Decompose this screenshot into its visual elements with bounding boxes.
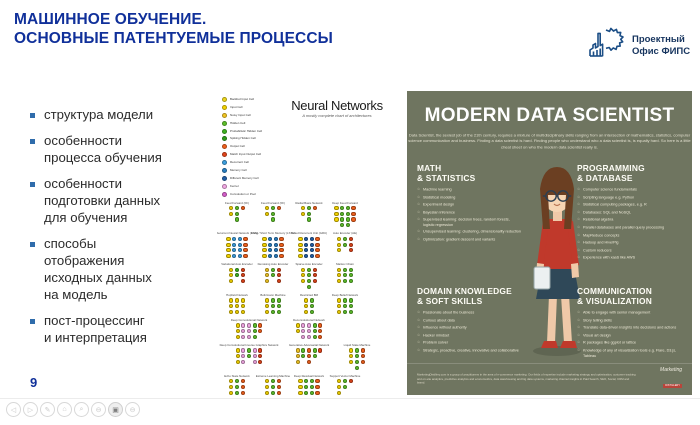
nn-node xyxy=(279,237,283,241)
collapse-icon: ⊖ xyxy=(130,406,136,414)
presentation-button[interactable]: ▣ xyxy=(108,402,123,417)
nn-node xyxy=(298,243,302,247)
ds-section-title-line-2: & DATABASE xyxy=(577,173,633,183)
ds-list-item: ☆Statistical computing packages, e.g. R xyxy=(577,202,681,207)
nn-node xyxy=(301,323,305,327)
nn-node xyxy=(229,385,233,389)
ds-list-item-label: Influence without authority xyxy=(423,325,521,330)
nn-node xyxy=(337,304,341,308)
nn-node xyxy=(277,279,281,283)
nn-legend-item: Different Memory Cell xyxy=(222,176,275,181)
nn-legend-dot-icon xyxy=(222,97,227,102)
nn-node xyxy=(229,379,233,383)
bullet-item-2: особенностипроцесса обучения xyxy=(30,132,210,166)
nn-node xyxy=(307,279,311,283)
ds-section: DOMAIN KNOWLEDGE& SOFT SKILLS☆Passionate… xyxy=(417,286,521,356)
nn-legend-label: Recurrent Cell xyxy=(230,161,249,165)
nn-architecture: Echo State Network xyxy=(219,375,255,395)
nn-architecture: Deep Belief Network xyxy=(327,294,363,314)
nn-node xyxy=(337,379,341,383)
nn-node xyxy=(313,335,317,339)
nn-node xyxy=(265,385,269,389)
nn-node xyxy=(241,391,245,395)
ds-list-item-label: Hacker mindset xyxy=(423,333,521,338)
ds-footer-logo-text: Marketing xyxy=(660,367,682,373)
ds-list-item: ☆Statistical modeling xyxy=(417,195,521,200)
nn-node xyxy=(271,385,275,389)
nn-legend-item: Match Input Output Cell xyxy=(222,152,275,157)
nn-node xyxy=(337,298,341,302)
star-icon: ☆ xyxy=(417,210,420,215)
bullet-list: структура моделиособенностипроцесса обуч… xyxy=(30,106,210,355)
nn-architecture-diagram xyxy=(219,379,255,395)
nn-node xyxy=(349,273,353,277)
slide-viewer: МАШИННОЕ ОБУЧЕНИЕ. ОСНОВНЫЕ ПАТЕНТУЕМЫЕ … xyxy=(0,0,700,425)
nn-node xyxy=(271,206,275,210)
nn-node xyxy=(258,348,262,352)
nn-node xyxy=(310,243,314,247)
nn-node xyxy=(298,248,302,252)
nn-architecture: Long / Short Term Memory (LSTM) xyxy=(255,232,291,258)
nn-node xyxy=(343,243,347,247)
nn-node xyxy=(265,298,269,302)
nn-node xyxy=(241,310,245,314)
nn-node xyxy=(337,248,341,252)
play-button[interactable]: ▷ xyxy=(23,402,38,417)
nn-architecture-diagram xyxy=(291,268,327,289)
nn-node xyxy=(232,254,236,258)
bullet-item-label: структура модели xyxy=(44,106,153,123)
nn-node xyxy=(232,243,236,247)
nn-node xyxy=(253,329,257,333)
ds-list-item-label: Bayesian inference xyxy=(423,210,521,215)
nn-legend-label: Noisy Input Cell xyxy=(230,114,251,118)
nn-legend-dot-icon xyxy=(222,160,227,165)
nn-node xyxy=(243,248,247,252)
nn-node xyxy=(235,379,239,383)
nn-legend-dot-icon xyxy=(222,176,227,181)
data-scientist-illustration xyxy=(530,155,584,360)
ds-list-item-label: Curious about data xyxy=(423,318,521,323)
nn-architecture-diagram xyxy=(255,379,291,395)
nn-node xyxy=(307,335,311,339)
nn-node xyxy=(343,279,347,283)
nn-node xyxy=(310,391,314,395)
ds-list-item-label: Experiment design xyxy=(423,202,521,207)
ds-list-item-label: Hadoop and Hive/Pig xyxy=(583,240,681,245)
pen-icon: ✎ xyxy=(45,406,51,414)
nn-node xyxy=(235,385,239,389)
nn-node xyxy=(268,237,272,241)
nn-architecture-label: Support Vector Machine xyxy=(323,374,366,378)
nn-node xyxy=(349,279,353,283)
nn-node xyxy=(241,348,245,352)
logo-line-2: Офис ФИПС xyxy=(632,46,690,57)
nn-node xyxy=(277,268,281,272)
nn-node xyxy=(351,212,355,216)
nn-architecture: Liquid State Machine xyxy=(339,344,375,370)
nn-legend-label: Match Input Output Cell xyxy=(230,153,261,157)
nn-architecture: Feed Forward (FF) xyxy=(255,202,291,228)
nn-node xyxy=(274,243,278,247)
star-icon: ☆ xyxy=(417,310,420,315)
nn-node xyxy=(340,223,344,227)
ds-list-item-label: Passionate about the business xyxy=(423,310,521,315)
nn-node xyxy=(307,217,311,221)
ds-list-item: ☆Curious about data xyxy=(417,318,521,323)
nn-node xyxy=(229,273,233,277)
nn-node xyxy=(238,237,242,241)
nn-legend-label: Input Cell xyxy=(230,106,242,110)
ds-list-item: ☆Optimization: gradient descent and vari… xyxy=(417,237,521,242)
ds-section-title: PROGRAMMING& DATABASE xyxy=(577,163,681,183)
nn-node xyxy=(346,217,350,221)
nn-node xyxy=(343,304,347,308)
nn-architecture: Hopfield Network xyxy=(219,294,255,314)
nn-node xyxy=(310,385,314,389)
nn-node xyxy=(265,304,269,308)
nn-architecture-label: Deep Feed Forward xyxy=(323,201,366,205)
ds-list-item-label: Statistical computing packages, e.g. R xyxy=(583,202,681,207)
nn-node xyxy=(265,379,269,383)
nn-node xyxy=(313,206,317,210)
nn-node xyxy=(301,354,305,358)
star-icon: ☆ xyxy=(417,348,420,353)
nn-architecture-diagram xyxy=(327,379,363,395)
ds-section-title: MATH& STATISTICS xyxy=(417,163,521,183)
nn-node xyxy=(304,391,308,395)
nn-node xyxy=(334,217,338,221)
star-icon: ☆ xyxy=(577,195,580,200)
nn-architecture-diagram xyxy=(291,379,327,395)
nn-node xyxy=(247,335,251,339)
logo-label: Проектный Офис ФИПС xyxy=(632,34,690,58)
nn-node xyxy=(355,348,359,352)
nn-node xyxy=(229,391,233,395)
nn-node xyxy=(226,254,230,258)
star-icon: ☆ xyxy=(577,348,580,353)
nn-node xyxy=(241,273,245,277)
bullet-item-1: структура модели xyxy=(30,106,210,123)
nn-architecture: Deep Convolutional Network xyxy=(219,319,279,339)
home-icon: ⌂ xyxy=(62,406,66,413)
nn-node xyxy=(236,335,240,339)
star-icon: ☆ xyxy=(577,325,580,330)
nn-node xyxy=(229,279,233,283)
nn-node xyxy=(235,212,239,216)
nn-node xyxy=(351,217,355,221)
nn-node xyxy=(247,354,251,358)
nn-node xyxy=(247,329,251,333)
star-icon: ☆ xyxy=(417,325,420,330)
ds-list-item: ☆Unsupervised learning: clustering, dime… xyxy=(417,229,521,234)
ds-list-item-label: Strategic, proactive, creative, innovati… xyxy=(423,348,521,353)
nn-node xyxy=(279,254,283,258)
ds-section-title: COMMUNICATION& VISUALIZATION xyxy=(577,286,681,306)
nn-node xyxy=(271,391,275,395)
nn-node xyxy=(304,379,308,383)
ds-section: PROGRAMMING& DATABASE☆Computer science f… xyxy=(577,163,681,263)
nn-node xyxy=(271,298,275,302)
nn-architecture: Boltzmann Machine xyxy=(255,294,291,314)
star-icon: ☆ xyxy=(577,340,580,345)
ds-list-item: ☆Supervised learning: decision trees, ra… xyxy=(417,217,521,226)
previous-slide-button[interactable]: ◁ xyxy=(6,402,21,417)
star-icon: ☆ xyxy=(417,229,420,234)
nn-architecture-diagram xyxy=(339,348,375,369)
nn-node xyxy=(343,268,347,272)
nn-node xyxy=(247,348,251,352)
bullet-item-4: способыотображенияисходных данныхна моде… xyxy=(30,235,210,303)
nn-architecture: Auto Encoder (AE) xyxy=(327,232,363,258)
nn-node xyxy=(268,248,272,252)
star-icon: ☆ xyxy=(577,225,580,230)
nn-architecture: Markov Chain xyxy=(327,263,363,289)
nn-architecture-label: Deep Belief Network xyxy=(323,294,366,298)
ds-footer: MarketingDistillery.com is a group of pr… xyxy=(407,363,692,391)
nn-legend-label: Hidden Cell xyxy=(230,121,245,125)
nn-node xyxy=(355,360,359,364)
nn-node xyxy=(315,391,319,395)
nn-legend-item: Backfed Input Cell xyxy=(222,97,275,102)
nn-node xyxy=(307,206,311,210)
nn-architecture-diagram xyxy=(255,268,291,284)
nn-node xyxy=(247,323,251,327)
presentation-toolbar[interactable]: ◁▷✎⌂⌕⊖▣⊖ xyxy=(6,402,140,417)
nn-node xyxy=(277,379,281,383)
nn-node xyxy=(304,385,308,389)
nn-architecture-diagram xyxy=(291,206,327,222)
nn-node xyxy=(343,310,347,314)
nn-node xyxy=(236,360,240,364)
nn-architecture-diagram xyxy=(279,348,339,364)
nn-node xyxy=(315,248,319,252)
nn-node xyxy=(340,212,344,216)
nn-node xyxy=(307,273,311,277)
nn-node xyxy=(307,285,311,289)
nn-legend-dot-icon xyxy=(222,121,227,126)
ds-list-item-label: Parallel databases and parallel query pr… xyxy=(583,225,681,230)
nn-node xyxy=(304,254,308,258)
nn-node xyxy=(229,212,233,216)
nn-node xyxy=(307,354,311,358)
nn-node xyxy=(351,206,355,210)
nn-node xyxy=(334,212,338,216)
nn-node xyxy=(318,323,322,327)
nn-architecture: Recurrent Neural Network (RNN) xyxy=(219,232,255,258)
nn-node xyxy=(235,391,239,395)
nn-legend-item: Input Cell xyxy=(222,105,275,110)
star-icon: ☆ xyxy=(417,333,420,338)
nn-node xyxy=(301,329,305,333)
nn-architecture: Variational Auto Encoder xyxy=(219,263,255,289)
nn-legend-dot-icon xyxy=(222,184,227,189)
bullet-marker-icon xyxy=(30,139,35,144)
nn-node xyxy=(268,243,272,247)
nn-node xyxy=(235,206,239,210)
star-icon: ☆ xyxy=(577,248,580,253)
nn-node xyxy=(340,206,344,210)
toolbar-divider xyxy=(0,398,700,399)
nn-architecture-label: Liquid State Machine xyxy=(335,344,378,348)
bullet-marker-icon xyxy=(30,319,35,324)
star-icon: ☆ xyxy=(577,333,580,338)
nn-node xyxy=(229,206,233,210)
star-icon: ☆ xyxy=(577,217,580,222)
nn-node xyxy=(296,329,300,333)
ds-section-title-line-1: MATH xyxy=(417,163,441,173)
nn-architecture: Radial Basis Network xyxy=(291,202,327,228)
nn-node xyxy=(315,385,319,389)
nn-architecture-diagram xyxy=(255,237,291,258)
nn-node xyxy=(229,298,233,302)
nn-poster-title: Neural Networks xyxy=(275,98,399,113)
nn-node xyxy=(298,254,302,258)
nn-legend-dot-icon xyxy=(222,129,227,134)
nn-node xyxy=(349,298,353,302)
factory-gear-icon xyxy=(586,26,626,66)
star-icon: ☆ xyxy=(577,310,580,315)
star-icon: ☆ xyxy=(577,318,580,323)
nn-node xyxy=(258,354,262,358)
nn-architecture-diagram xyxy=(255,298,291,314)
nn-architecture: Deep Convolutional Inverse Graphics Netw… xyxy=(219,344,279,370)
nn-node xyxy=(349,310,353,314)
bullet-marker-icon xyxy=(30,113,35,118)
nn-node xyxy=(361,354,365,358)
nn-node xyxy=(349,237,353,241)
ds-list-item: ☆Machine learning xyxy=(417,187,521,192)
nn-architecture: Sparse Auto Encoder xyxy=(291,263,327,289)
nn-node xyxy=(301,212,305,216)
nn-node xyxy=(241,329,245,333)
nn-legend-label: Output Cell xyxy=(230,145,245,149)
nn-node xyxy=(253,335,257,339)
ds-footer-badge: DISTILLERY xyxy=(663,384,682,388)
nn-node xyxy=(241,323,245,327)
nn-architecture-label: Deconvolutional Network xyxy=(273,319,345,323)
ds-list-item: ☆Databases: SQL and NoSQL xyxy=(577,210,681,215)
nn-node xyxy=(337,268,341,272)
nn-node xyxy=(307,329,311,333)
nn-node xyxy=(315,379,319,383)
nn-architecture-diagram xyxy=(219,237,255,258)
nn-node xyxy=(232,248,236,252)
nn-node xyxy=(313,323,317,327)
ds-list-item: ☆Relational algebra xyxy=(577,217,681,222)
star-icon: ☆ xyxy=(417,202,420,207)
nn-architecture-diagram xyxy=(327,298,363,314)
nn-node xyxy=(343,379,347,383)
ds-list-item-label: Custom reducers xyxy=(583,248,681,253)
nn-node xyxy=(226,243,230,247)
nn-architecture-label: Auto Encoder (AE) xyxy=(323,232,366,236)
nn-node xyxy=(307,360,311,364)
neural-networks-poster: Backfed Input CellInput CellNoisy Input … xyxy=(217,91,399,395)
nn-node xyxy=(238,254,242,258)
nn-node xyxy=(277,298,281,302)
nn-node xyxy=(241,354,245,358)
nn-node xyxy=(307,268,311,272)
nn-node xyxy=(296,354,300,358)
ds-list-item-label: Visual art design xyxy=(583,333,681,338)
nn-architecture-diagram xyxy=(327,206,363,227)
nn-architecture: Generative Adversarial Network xyxy=(279,344,339,370)
star-icon: ☆ xyxy=(577,210,580,215)
nn-node xyxy=(301,348,305,352)
nn-architecture-diagram xyxy=(279,323,339,339)
nn-legend-label: Memory Cell xyxy=(230,169,247,173)
ds-section-title-line-1: COMMUNICATION xyxy=(577,286,652,296)
nn-legend-item: Probabilistic Hidden Cell xyxy=(222,129,275,134)
collapse-button[interactable]: ⊖ xyxy=(125,402,140,417)
star-icon: ☆ xyxy=(577,187,580,192)
bullet-marker-icon xyxy=(30,242,35,247)
ds-list-item: ☆Strategic, proactive, creative, innovat… xyxy=(417,348,521,353)
nn-node xyxy=(226,248,230,252)
bullet-item-label: особенностиподготовки данныхдля обучения xyxy=(44,175,160,226)
nn-legend-dot-icon xyxy=(222,105,227,110)
ds-list-item-label: Experience with xaaS like AWS xyxy=(583,255,681,260)
nn-legend-label: Different Memory Cell xyxy=(230,177,258,181)
nn-node xyxy=(279,248,283,252)
nn-node xyxy=(349,354,353,358)
nn-node xyxy=(304,310,308,314)
nn-node xyxy=(346,206,350,210)
nn-node xyxy=(243,254,247,258)
ds-list-item: ☆Visual art design xyxy=(577,333,681,338)
nn-architecture: Denoising Auto Encoder xyxy=(255,263,291,289)
nn-node xyxy=(253,360,257,364)
nn-node xyxy=(236,323,240,327)
star-icon: ☆ xyxy=(417,187,420,192)
pen-button[interactable]: ✎ xyxy=(40,402,55,417)
ds-list-item-label: Databases: SQL and NoSQL xyxy=(583,210,681,215)
nn-node xyxy=(262,237,266,241)
nn-node xyxy=(271,212,275,216)
nn-node xyxy=(271,273,275,277)
home-button[interactable]: ⌂ xyxy=(57,402,72,417)
nn-node xyxy=(337,243,341,247)
nn-architecture: Deep Residual Network xyxy=(291,375,327,395)
nn-architecture-diagram xyxy=(327,268,363,284)
nn-architecture-diagram xyxy=(219,268,255,284)
nn-node xyxy=(235,268,239,272)
bullet-item-label: особенностипроцесса обучения xyxy=(44,132,162,166)
nn-node xyxy=(274,237,278,241)
ds-list-item-label: Story telling skills xyxy=(583,318,681,323)
ds-list-item: ☆R packages like ggplot or lattice xyxy=(577,340,681,345)
star-icon: ☆ xyxy=(577,255,580,260)
zoom-button[interactable]: ⌕ xyxy=(74,402,89,417)
nn-node xyxy=(243,243,247,247)
ds-list-item: ☆Computer science fundamentals xyxy=(577,187,681,192)
nn-node xyxy=(337,385,341,389)
previous-slide-icon: ◁ xyxy=(11,406,16,414)
data-scientist-infographic: MODERN DATA SCIENTIST Data Scientist, th… xyxy=(407,91,692,395)
nn-node xyxy=(318,348,322,352)
nn-node xyxy=(274,254,278,258)
nn-node xyxy=(315,254,319,258)
nn-node xyxy=(241,279,245,283)
nn-legend: Backfed Input CellInput CellNoisy Input … xyxy=(217,91,275,200)
nn-node xyxy=(343,298,347,302)
bullet-item-label: способыотображенияисходных данныхна моде… xyxy=(44,235,152,303)
nn-node xyxy=(229,304,233,308)
nn-architecture-diagram xyxy=(219,323,279,339)
presentation-icon: ▣ xyxy=(112,406,119,414)
minus-button[interactable]: ⊖ xyxy=(91,402,106,417)
